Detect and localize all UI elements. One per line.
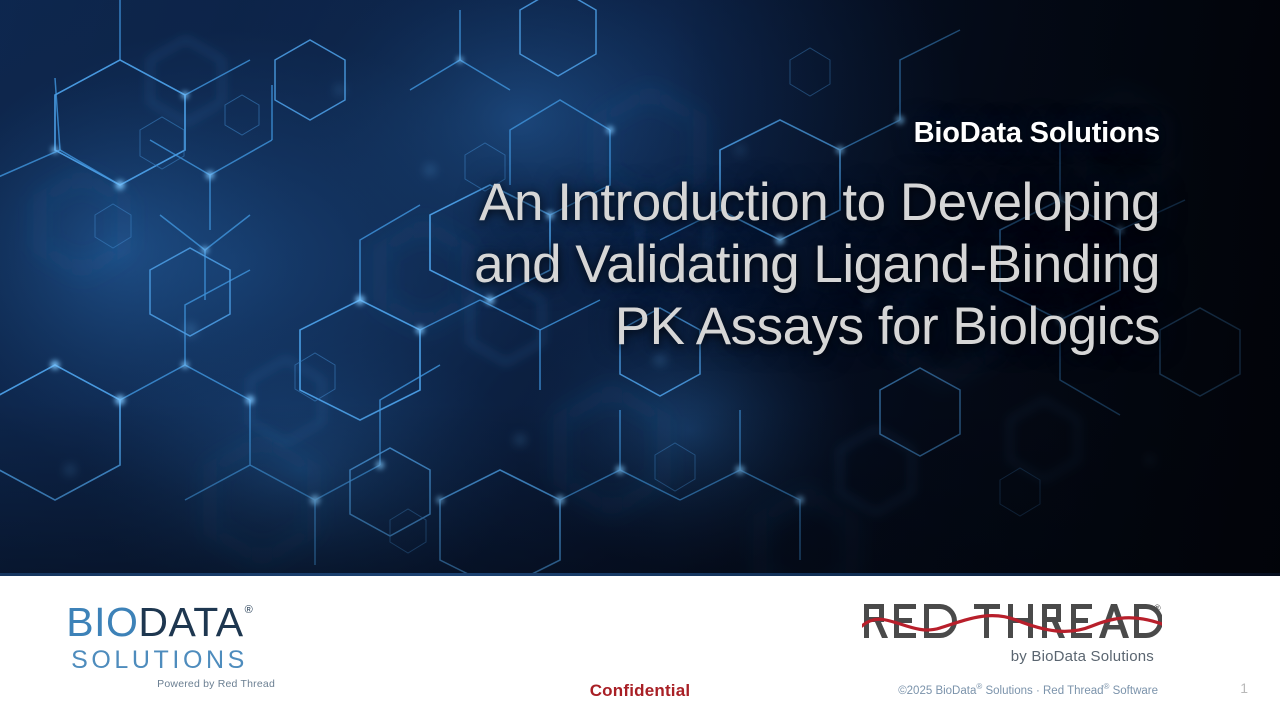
hero-text-block: BioData Solutions An Introduction to Dev… [280, 118, 1160, 358]
company-kicker: BioData Solutions [280, 118, 1160, 150]
biodata-wordmark: BIO DATA ® [42, 602, 277, 643]
registered-mark-icon: ® [1154, 603, 1161, 613]
page-number: 1 [1240, 680, 1248, 696]
presentation-slide: BioData Solutions An Introduction to Dev… [0, 0, 1280, 720]
biodata-word-bio: BIO [66, 602, 138, 643]
copyright-mid: Solutions · Red Thread [982, 685, 1103, 697]
red-thread-wordmark: ® [862, 598, 1162, 644]
biodata-solutions-logo: BIO DATA ® SOLUTIONS Powered by Red Thre… [42, 602, 277, 690]
title-line-1: An Introduction to Developing [280, 172, 1160, 234]
red-thread-letters [864, 604, 1162, 638]
title-line-2: and Validating Ligand-Binding [280, 234, 1160, 296]
copyright-prefix: ©2025 BioData [898, 685, 976, 697]
biodata-word-data: DATA [138, 602, 243, 643]
red-thread-logo: ® by BioData Solutions [862, 598, 1162, 665]
registered-mark-icon: ® [245, 605, 253, 616]
hero-banner: BioData Solutions An Introduction to Dev… [0, 0, 1280, 576]
title-line-3: PK Assays for Biologics [280, 296, 1160, 358]
biodata-subtitle: SOLUTIONS [42, 646, 277, 675]
page-title: An Introduction to Developing and Valida… [280, 172, 1160, 358]
slide-footer: BIO DATA ® SOLUTIONS Powered by Red Thre… [0, 576, 1280, 720]
copyright-suffix: Software [1109, 685, 1158, 697]
copyright-notice: ©2025 BioData® Solutions · Red Thread® S… [898, 682, 1158, 697]
red-thread-subtitle: by BioData Solutions [862, 648, 1162, 665]
